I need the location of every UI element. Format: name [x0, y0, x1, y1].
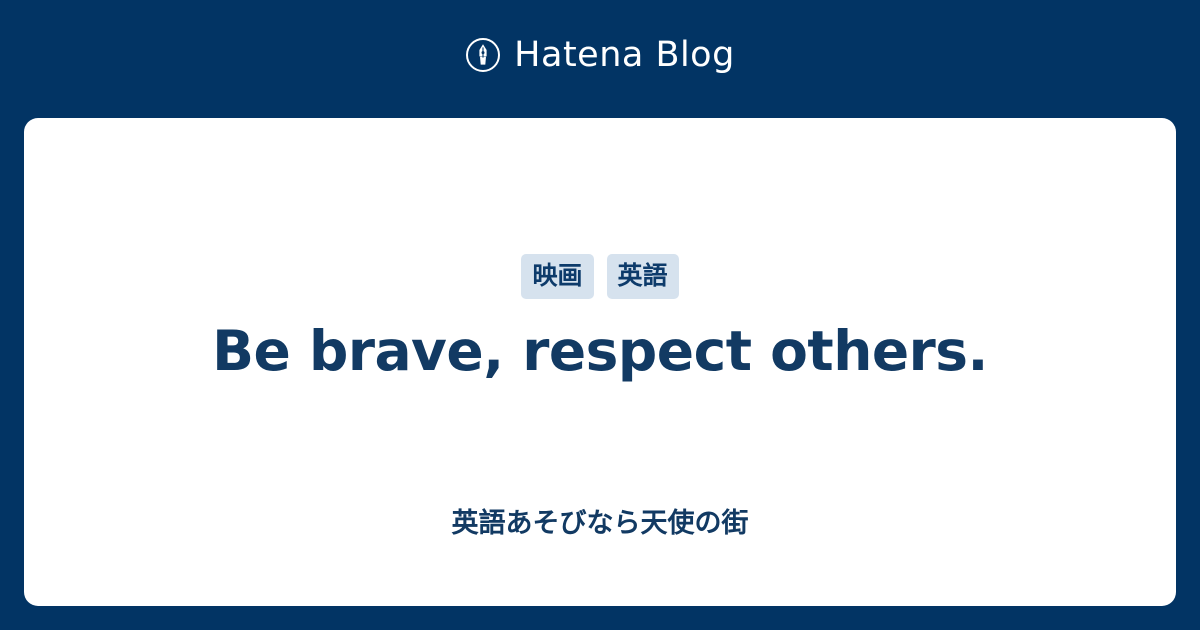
tag-item[interactable]: 映画 [521, 254, 593, 299]
site-header: Hatena Blog [0, 0, 1200, 118]
entry-title: Be brave, respect others. [212, 321, 988, 383]
entry-card: 映画 英語 Be brave, respect others. 英語あそびなら天… [24, 118, 1176, 606]
tag-list: 映画 英語 [521, 254, 678, 299]
fountain-pen-nib-in-circle-icon [465, 37, 501, 73]
brand-name: Hatena Blog [514, 38, 735, 73]
tag-item[interactable]: 英語 [607, 254, 679, 299]
hatena-blog-logo[interactable] [465, 37, 501, 73]
blog-title[interactable]: 英語あそびなら天使の街 [24, 508, 1176, 540]
